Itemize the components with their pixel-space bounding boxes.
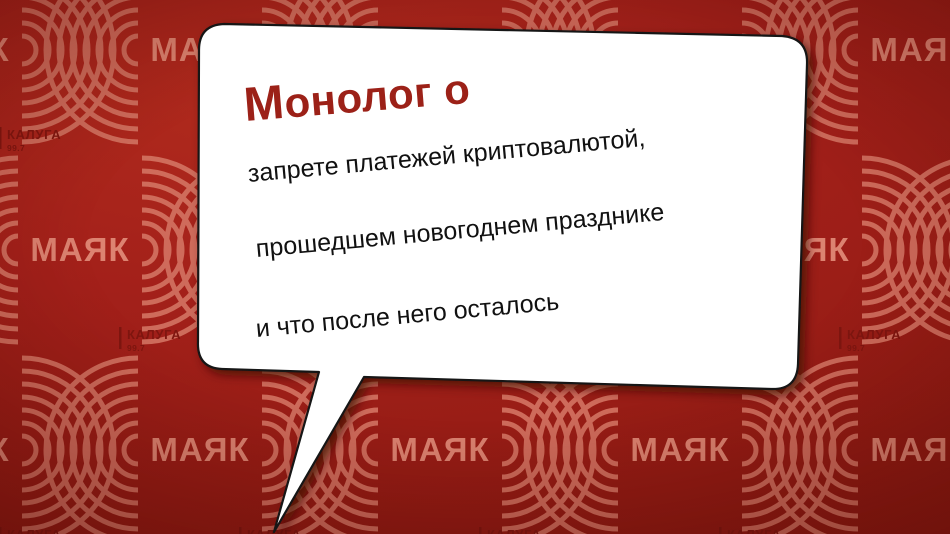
bubble-body-line-3: и что после него осталось: [255, 287, 561, 343]
image-canvas: МАЯК КАЛУГА 99.7: [0, 0, 950, 534]
bubble-title: Монолог о: [242, 60, 472, 133]
bubble-body-line-2: прошедшем новогоднем празднике: [255, 198, 666, 264]
bubble-body-line-1: запрете платежей криптовалютой,: [247, 124, 647, 189]
bubble-title-rest: онолог о: [283, 65, 472, 127]
bubble-text-block: Монолог о запрете платежей криптовалютой…: [196, 20, 820, 400]
bubble-title-capital: М: [242, 76, 287, 132]
